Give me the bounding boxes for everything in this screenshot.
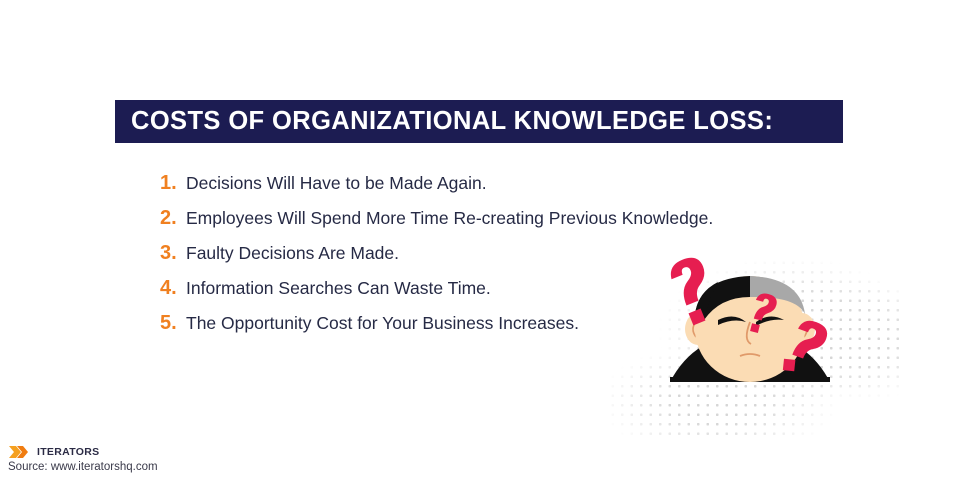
list-item-label: Employees Will Spend More Time Re-creati… (186, 208, 713, 229)
brand-row: ITERATORS (8, 444, 158, 459)
list-item-number: 1. (160, 172, 186, 195)
question-mark-icon (600, 252, 900, 442)
iterators-logo-icon (8, 445, 30, 459)
list-item: 1. Decisions Will Have to be Made Again. (160, 172, 820, 207)
source-label: Source: www.iteratorshq.com (8, 461, 158, 473)
slide-canvas: COSTS OF ORGANIZATIONAL KNOWLEDGE LOSS: … (0, 0, 960, 480)
list-item-number: 3. (160, 242, 186, 265)
list-item-label: The Opportunity Cost for Your Business I… (186, 313, 579, 334)
list-item-number: 2. (160, 207, 186, 230)
list-item-label: Faulty Decisions Are Made. (186, 243, 399, 264)
title-banner: COSTS OF ORGANIZATIONAL KNOWLEDGE LOSS: (115, 100, 843, 143)
list-item-number: 4. (160, 277, 186, 300)
footer: ITERATORS Source: www.iteratorshq.com (8, 444, 158, 473)
list-item: 2. Employees Will Spend More Time Re-cre… (160, 207, 820, 242)
confused-person-illustration (600, 252, 900, 442)
list-item-label: Decisions Will Have to be Made Again. (186, 173, 487, 194)
list-item-number: 5. (160, 312, 186, 335)
brand-name: ITERATORS (37, 446, 99, 458)
list-item-label: Information Searches Can Waste Time. (186, 278, 491, 299)
page-title: COSTS OF ORGANIZATIONAL KNOWLEDGE LOSS: (115, 107, 773, 136)
